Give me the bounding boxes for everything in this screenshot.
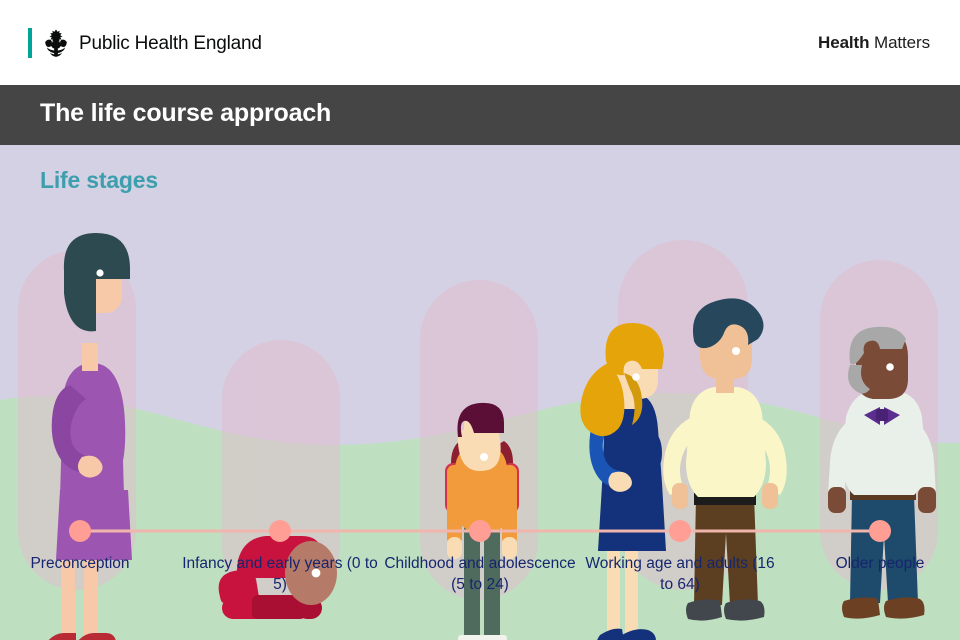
child-eye (480, 453, 488, 461)
om-shirt (842, 391, 926, 495)
timeline-labels: Preconception Infancy and early years (0… (0, 553, 960, 640)
am-hand-right (762, 483, 778, 509)
am-shirt (686, 387, 766, 497)
pw-eye (96, 269, 103, 276)
pw-dress-skirt (56, 490, 132, 560)
royal-crest-icon (41, 28, 71, 58)
om-hand-left (828, 487, 846, 513)
title-bar: The life course approach (0, 85, 960, 145)
illustration-panel: Life stages Preconception Infancy and ea… (0, 145, 960, 640)
phe-logo: Public Health England (28, 27, 262, 59)
timeline-label-working-age[interactable]: Working age and adults (16 to 64) (578, 553, 782, 595)
timeline-label-older-people[interactable]: Older people (800, 553, 960, 574)
page-header: Public Health England Health Matters (0, 0, 960, 85)
am-hand-left (672, 483, 688, 509)
health-matters-brand: Health Matters (818, 33, 930, 53)
brand-regular-word: Matters (869, 33, 930, 52)
om-bowtie-knot (876, 409, 888, 421)
timeline-dot-childhood[interactable] (469, 520, 491, 542)
timeline-label-childhood[interactable]: Childhood and adolescence (5 to 24) (378, 553, 582, 595)
phe-logo-text: Public Health England (79, 34, 262, 53)
logo-accent-bar (28, 28, 32, 58)
page-title: The life course approach (40, 99, 331, 128)
timeline-label-infancy[interactable]: Infancy and early years (0 to 5) (180, 553, 380, 595)
pw-neck (82, 343, 98, 371)
aw-eye (632, 373, 640, 381)
life-course-infographic: Public Health England Health Matters The… (0, 0, 960, 640)
timeline-dot-older-people[interactable] (869, 520, 891, 542)
timeline-dot-preconception[interactable] (69, 520, 91, 542)
am-eye (732, 347, 740, 355)
om-hand-right (918, 487, 936, 513)
timeline-dot-working-age[interactable] (669, 520, 691, 542)
om-eye (886, 363, 894, 371)
timeline-dot-infancy[interactable] (269, 520, 291, 542)
timeline-label-preconception[interactable]: Preconception (0, 553, 160, 574)
brand-bold-word: Health (818, 33, 869, 52)
section-heading: Life stages (40, 167, 158, 194)
